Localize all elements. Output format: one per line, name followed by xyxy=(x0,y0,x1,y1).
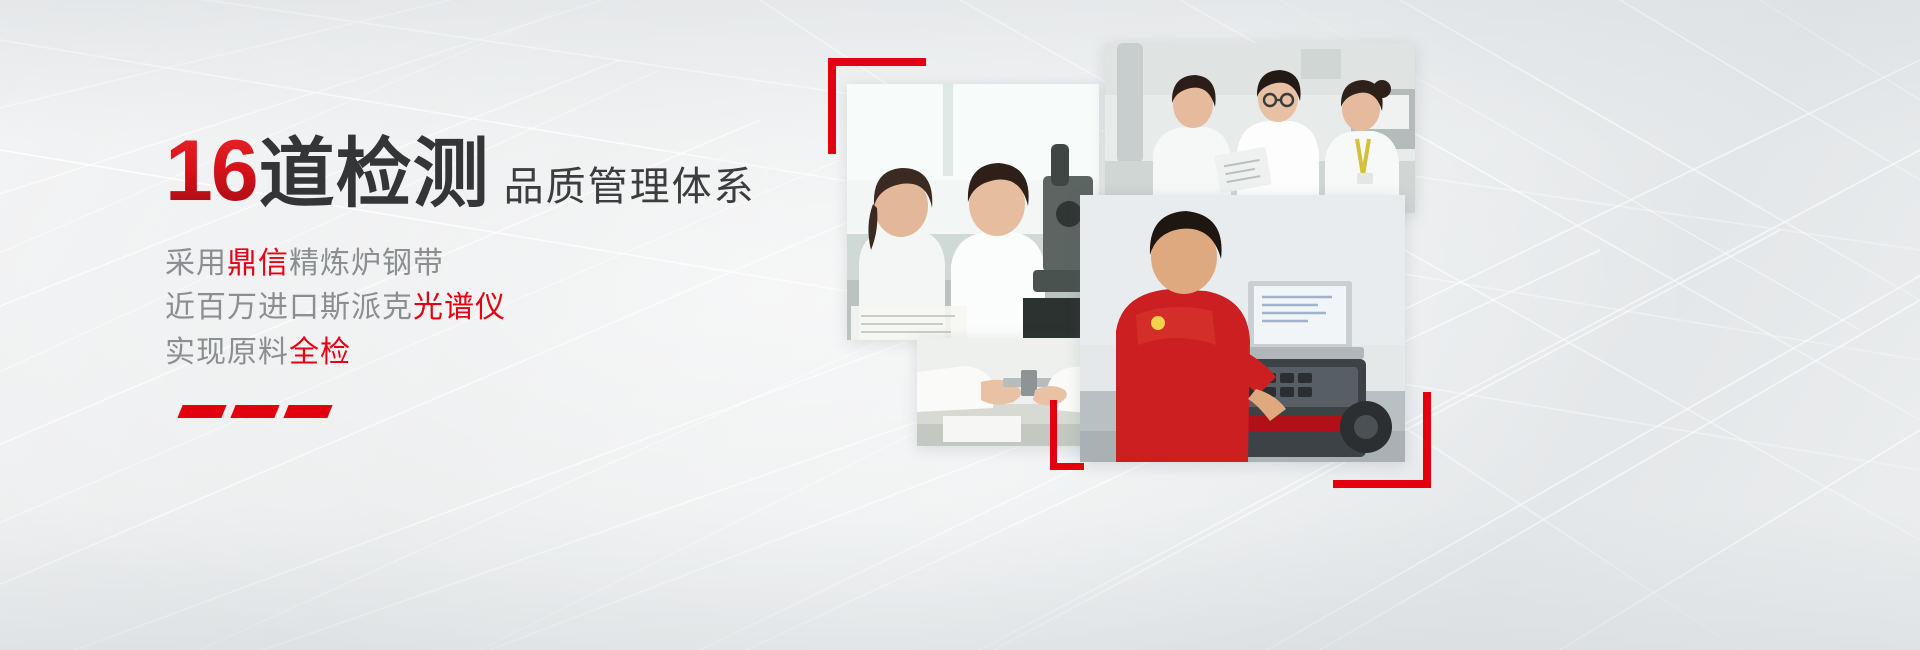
subline-2: 近百万进口斯派克光谱仪 xyxy=(165,286,845,330)
subline-3-part-1: 实现原料 xyxy=(165,335,289,370)
subline-3: 实现原料全检 xyxy=(165,331,845,375)
photo-labteam xyxy=(1105,43,1415,213)
subline-2-part-1: 近百万进口斯派克 xyxy=(165,290,413,325)
dash-3 xyxy=(283,405,332,418)
photo-microscope xyxy=(847,84,1099,340)
subline-1-part-3: 精炼炉钢带 xyxy=(289,246,444,281)
photo-collage xyxy=(820,0,1920,650)
dash-2 xyxy=(230,405,279,418)
bracket-arm-horizontal xyxy=(1333,480,1431,488)
subline-1-part-1: 采用 xyxy=(165,246,227,281)
dash-1 xyxy=(177,405,226,418)
bracket-arm-vertical xyxy=(1050,400,1057,470)
page-title: 16 道检测 品质管理体系 xyxy=(165,128,845,214)
headline-sub-text: 品质管理体系 xyxy=(504,167,756,207)
subline-list: 采用鼎信精炼炉钢带 近百万进口斯派克光谱仪 实现原料全检 xyxy=(165,242,845,375)
corner-bracket-bottom-left xyxy=(1050,400,1084,470)
red-triple-dash xyxy=(180,405,330,418)
bracket-arm-vertical xyxy=(828,58,836,154)
bracket-arm-horizontal xyxy=(1050,463,1084,470)
bracket-arm-vertical xyxy=(1423,392,1431,488)
headline-main-text: 道检测 xyxy=(259,136,490,212)
subline-2-accent: 光谱仪 xyxy=(413,290,506,325)
bracket-arm-horizontal xyxy=(828,58,926,66)
headline-block: 16 道检测 品质管理体系 采用鼎信精炼炉钢带 近百万进口斯派克光谱仪 实现原料… xyxy=(165,128,845,375)
headline-number: 16 xyxy=(165,128,257,214)
corner-bracket-bottom-right xyxy=(1333,392,1431,488)
promo-banner: 16 道检测 品质管理体系 采用鼎信精炼炉钢带 近百万进口斯派克光谱仪 实现原料… xyxy=(0,0,1920,650)
subline-1-accent: 鼎信 xyxy=(227,246,289,281)
subline-3-accent: 全检 xyxy=(289,335,351,370)
subline-1: 采用鼎信精炼炉钢带 xyxy=(165,242,845,286)
